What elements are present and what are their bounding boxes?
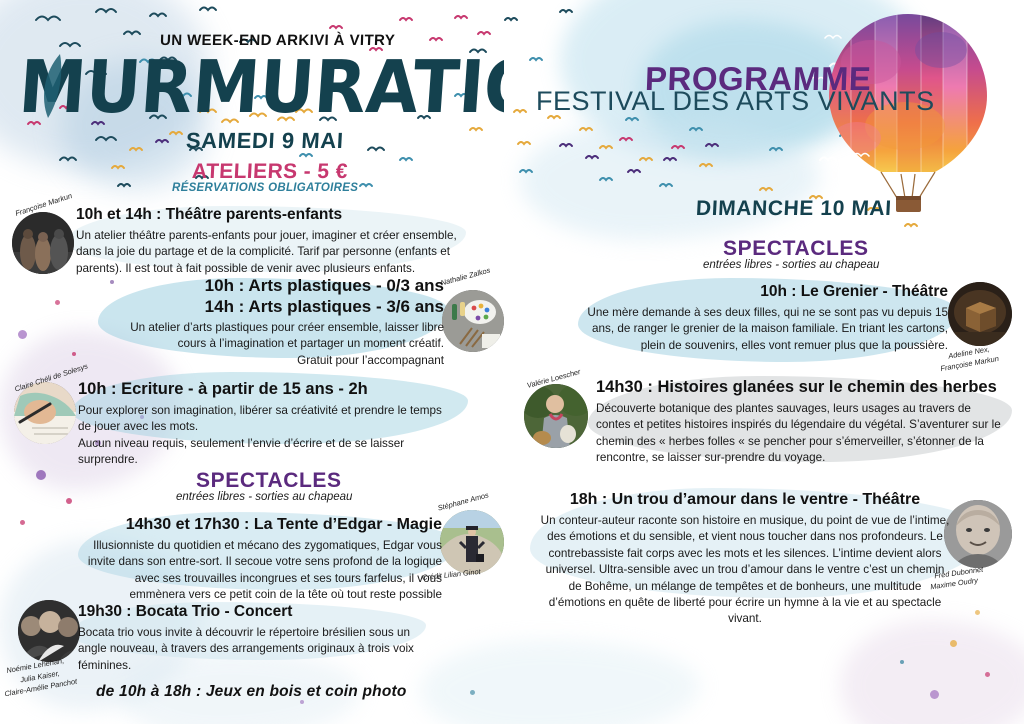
reservation-note: RÉSERVATIONS OBLIGATOIRES xyxy=(172,182,358,194)
event-body-secondary: Gratuit pour l’accompagnant xyxy=(100,353,444,369)
event-theatre-parents-enfants: 10h et 14h : Théâtre parents-enfants Un … xyxy=(76,205,468,277)
event-title: 14h30 et 17h30 : La Tente d’Edgar - Magi… xyxy=(82,515,442,534)
event-body: Un atelier d’arts plastiques pour créer … xyxy=(100,320,444,353)
photo-bocata-trio xyxy=(18,600,80,662)
sunday-date: DIMANCHE 10 MAI xyxy=(695,197,892,221)
event-title: 10h : Le Grenier - Théâtre xyxy=(582,282,948,301)
event-title: 10h : Arts plastiques - 0/3 ans xyxy=(100,276,444,295)
photo-art-supplies xyxy=(442,290,504,352)
logo-wordmark: MURMURATION xyxy=(16,46,504,120)
section-title-spectacles-dimanche: SPECTACLES xyxy=(723,237,869,261)
event-body: Une mère demande à ses deux filles, qui … xyxy=(582,305,948,354)
photo-botanist xyxy=(524,384,588,448)
event-body: Bocata trio vous invite à découvrir le r… xyxy=(78,625,430,674)
photo-attic-box xyxy=(948,282,1012,346)
event-body: Découverte botanique des plantes sauvage… xyxy=(596,401,1002,467)
event-body-secondary: Aucun niveau requis, seulement l’envie d… xyxy=(78,436,462,469)
event-trou-damour: 18h : Un trou d’amour dans le ventre - T… xyxy=(540,490,950,628)
event-title: 10h et 14h : Théâtre parents-enfants xyxy=(76,205,468,224)
event-title-secondary: 14h : Arts plastiques - 3/6 ans xyxy=(100,297,444,316)
event-le-grenier: 10h : Le Grenier - Théâtre Une mère dema… xyxy=(582,282,948,354)
festival-subtitle: FESTIVAL DES ARTS VIVANTS xyxy=(536,86,935,117)
photo-theatre-workshop xyxy=(12,212,74,274)
event-tente-edgar: 14h30 et 17h30 : La Tente d’Edgar - Magi… xyxy=(82,515,442,604)
event-title: 14h30 : Histoires glanées sur le chemin … xyxy=(596,378,1006,397)
footer-note: de 10h à 18h : Jeux en bois et coin phot… xyxy=(96,683,407,701)
photo-magician xyxy=(440,510,504,574)
event-title: 10h : Ecriture - à partir de 15 ans - 2h xyxy=(78,380,468,399)
event-body: Un atelier théâtre parents-enfants pour … xyxy=(76,228,458,277)
event-title: 19h30 : Bocata Trio - Concert xyxy=(78,602,438,621)
event-histoires-glanees: 14h30 : Histoires glanées sur le chemin … xyxy=(596,378,1006,467)
poster-page: UN WEEK-END ARKIVI À VITRY MURMURATION S… xyxy=(0,0,1024,724)
event-body: Pour explorer son imagination, libérer s… xyxy=(78,403,456,436)
saturday-date: SAMEDI 9 MAI xyxy=(185,128,344,154)
ateliers-price: ATELIERS - 5 € xyxy=(191,160,348,184)
event-bocata-trio: 19h30 : Bocata Trio - Concert Bocata tri… xyxy=(78,602,438,674)
event-body: Illusionniste du quotidien et mécano des… xyxy=(82,538,442,604)
section-subtitle-spectacles-dimanche: entrées libres - sorties au chapeau xyxy=(703,259,879,271)
festival-logo: MURMURATION xyxy=(14,46,504,118)
photo-credit: Stéphane Amos xyxy=(437,490,490,512)
event-arts-plastiques: 10h : Arts plastiques - 0/3 ans 14h : Ar… xyxy=(100,276,444,369)
section-title-spectacles-samedi: SPECTACLES xyxy=(196,469,342,493)
event-title: 18h : Un trou d’amour dans le ventre - T… xyxy=(540,490,950,509)
event-ecriture: 10h : Ecriture - à partir de 15 ans - 2h… xyxy=(78,380,468,469)
section-subtitle-spectacles-samedi: entrées libres - sorties au chapeau xyxy=(176,491,352,503)
photo-storyteller-portrait xyxy=(944,500,1012,568)
event-body: Un conteur-auteur raconte son histoire e… xyxy=(540,513,950,628)
